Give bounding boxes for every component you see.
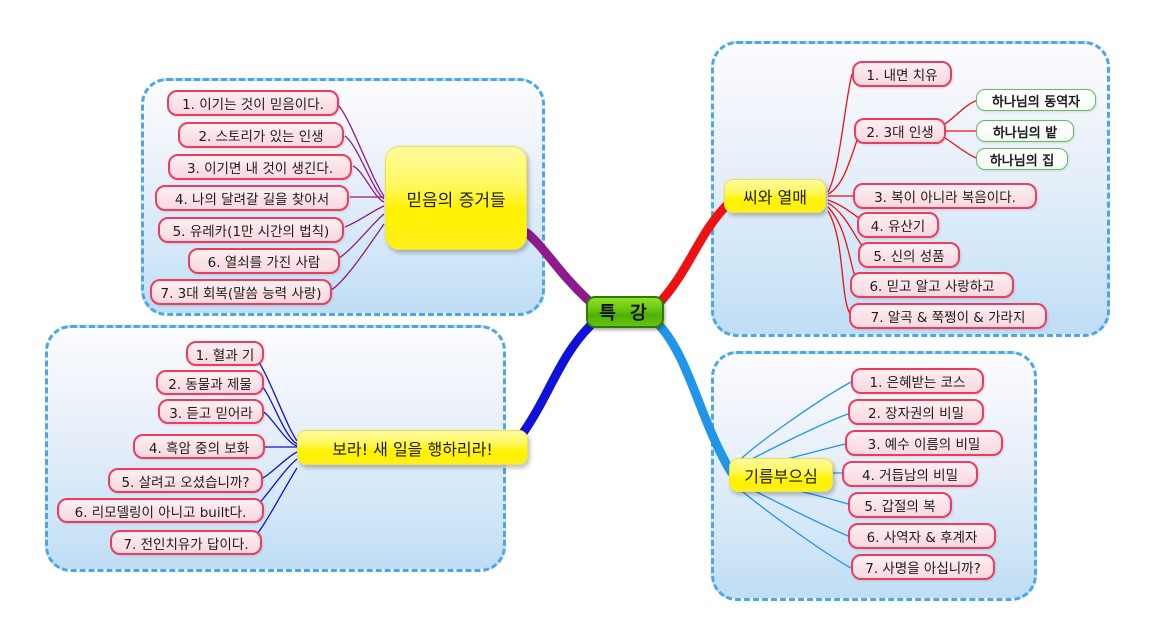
leaf-behold-new-thing-1[interactable]: 1. 혈과 기 <box>186 341 264 366</box>
leaf-anointing-5[interactable]: 5. 갑절의 복 <box>848 492 952 518</box>
topic-seed-and-fruit[interactable]: 씨와 열매 <box>724 179 826 213</box>
leaf-behold-new-thing-4[interactable]: 4. 흑암 중의 보화 <box>133 434 265 459</box>
root-node[interactable]: 특 강 <box>586 296 664 328</box>
leaf-behold-new-thing-2[interactable]: 2. 동물과 제물 <box>156 370 264 395</box>
leaf-anointing-4[interactable]: 4. 거듭남의 비밀 <box>842 461 978 487</box>
leaf-seed-and-fruit-7[interactable]: 7. 알곡 & 쭉쩡이 & 가라지 <box>849 303 1047 329</box>
leaf-faith-evidence-2[interactable]: 2. 스토리가 있는 인생 <box>178 122 344 148</box>
leaf-faith-evidence-1[interactable]: 1. 이기는 것이 믿음이다. <box>167 90 339 116</box>
leaf-behold-new-thing-6[interactable]: 6. 리모델링이 아니고 built다. <box>57 498 264 523</box>
leaf-anointing-7[interactable]: 7. 사명을 아십니까? <box>851 554 995 580</box>
leaf-anointing-3[interactable]: 3. 예수 이름의 비밀 <box>845 430 1003 456</box>
leaf-seed-and-fruit-1[interactable]: 1. 내면 치유 <box>852 61 952 87</box>
mindmap-canvas: 특 강 믿음의 증거들 1. 이기는 것이 믿음이다. 2. 스토리가 있는 인… <box>0 0 1161 644</box>
leaf-faith-evidence-6[interactable]: 6. 열쇠를 가진 사람 <box>188 248 340 274</box>
leaf-behold-new-thing-7[interactable]: 7. 전인치유가 답이다. <box>110 530 262 555</box>
leaf-behold-new-thing-3[interactable]: 3. 듣고 믿어라 <box>158 399 264 424</box>
leaf-faith-evidence-7[interactable]: 7. 3대 회복(말씀 능력 사랑) <box>150 279 332 305</box>
leaf-anointing-1[interactable]: 1. 은혜받는 코스 <box>851 368 984 394</box>
topic-anointing[interactable]: 기름부으심 <box>729 458 833 492</box>
main-branch-behold-new-thing <box>518 326 590 440</box>
leaf-seed-and-fruit-5[interactable]: 5. 신의 성품 <box>858 242 960 268</box>
subleaf-seed-and-fruit-1[interactable]: 하나님의 동역자 <box>976 89 1096 111</box>
leaf-anointing-2[interactable]: 2. 장자권의 비밀 <box>848 399 984 425</box>
subleaf-seed-and-fruit-2[interactable]: 하나님의 밭 <box>976 120 1074 142</box>
subleaf-seed-and-fruit-3[interactable]: 하나님의 집 <box>976 148 1068 170</box>
leaf-seed-and-fruit-4[interactable]: 4. 유산기 <box>857 212 939 238</box>
leaf-anointing-6[interactable]: 6. 사역자 & 후계자 <box>848 523 996 549</box>
leaf-behold-new-thing-5[interactable]: 5. 살려고 오셨습니까? <box>108 468 263 493</box>
leaf-faith-evidence-4[interactable]: 4. 나의 달려갈 길을 찾아서 <box>155 185 349 211</box>
leaf-seed-and-fruit-2[interactable]: 2. 3대 인생 <box>854 118 946 144</box>
leaf-faith-evidence-5[interactable]: 5. 유레카(1만 시간의 법칙) <box>158 217 344 243</box>
leaf-seed-and-fruit-3[interactable]: 3. 복이 아니라 복음이다. <box>853 183 1037 209</box>
leaf-seed-and-fruit-6[interactable]: 6. 믿고 알고 사랑하고 <box>850 272 1014 298</box>
leaf-faith-evidence-3[interactable]: 3. 이기면 내 것이 생긴다. <box>168 154 352 180</box>
topic-behold-new-thing[interactable]: 보라! 새 일을 행하리라! <box>297 430 528 465</box>
topic-faith-evidence[interactable]: 믿음의 증거들 <box>385 146 527 250</box>
